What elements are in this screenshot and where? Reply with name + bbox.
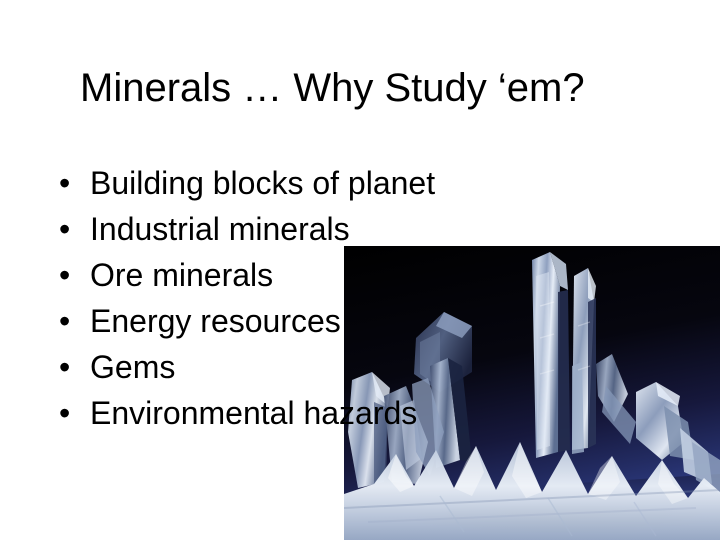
bullet-icon: • [59, 298, 70, 344]
list-item: • Environmental hazards [56, 390, 476, 436]
bullet-icon: • [59, 160, 70, 206]
bullet-icon: • [59, 390, 70, 436]
bullet-icon: • [59, 344, 70, 390]
list-item-label: Energy resources [90, 303, 341, 339]
bullet-icon: • [59, 252, 70, 298]
bullet-icon: • [59, 206, 70, 252]
list-item-label: Building blocks of planet [90, 165, 435, 201]
list-item-label: Environmental hazards [90, 395, 417, 431]
list-item-label: Industrial minerals [90, 211, 350, 247]
list-item: • Energy resources [56, 298, 476, 344]
list-item: • Ore minerals [56, 252, 476, 298]
list-item: • Industrial minerals [56, 206, 476, 252]
list-item-label: Ore minerals [90, 257, 273, 293]
list-item-label: Gems [90, 349, 175, 385]
bullet-list: • Building blocks of planet • Industrial… [56, 160, 476, 436]
slide-canvas: Minerals … Why Study ‘em? • Building blo… [0, 0, 720, 540]
list-item: • Gems [56, 344, 476, 390]
list-item: • Building blocks of planet [56, 160, 476, 206]
page-title: Minerals … Why Study ‘em? [80, 64, 660, 112]
